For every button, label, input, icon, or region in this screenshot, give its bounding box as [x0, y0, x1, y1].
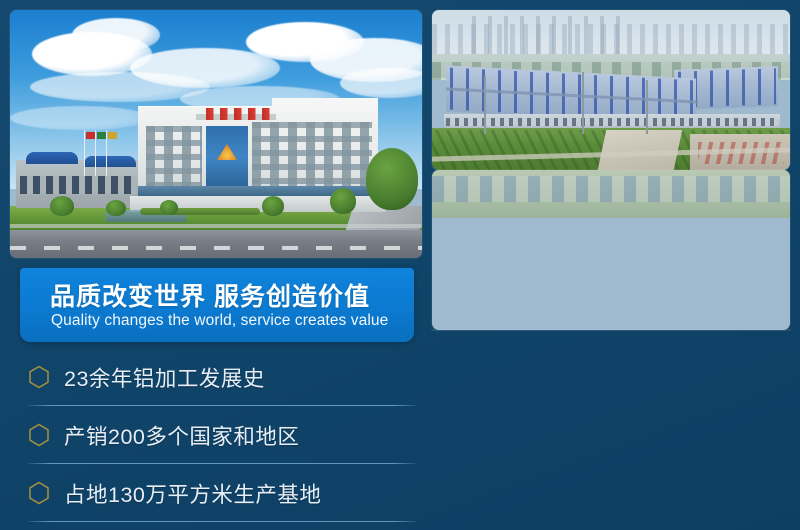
list-item-label: 23余年铝加工发展史	[64, 362, 265, 393]
tree-icon	[330, 188, 356, 214]
slogan-chinese: 品质改变世界 服务创造价值	[50, 277, 370, 313]
tree-icon	[160, 200, 178, 215]
divider	[28, 521, 416, 522]
list-item[interactable]: 占地130万平方米生产基地	[20, 464, 422, 522]
tree-icon	[50, 196, 74, 216]
hexagon-outline-icon	[28, 481, 50, 505]
left-column: 品质改变世界 服务创造价值 Quality changes the world,…	[10, 10, 422, 520]
photo-office-building[interactable]	[10, 10, 422, 258]
building-red-sign	[206, 108, 274, 120]
list-item[interactable]: 23余年铝加工发展史	[20, 348, 422, 406]
tree-icon	[106, 200, 126, 216]
flag-icon	[108, 132, 117, 139]
photo-aerial-factory-wide[interactable]	[432, 10, 790, 170]
list-item-label: 占地130万平方米生产基地	[64, 478, 321, 509]
tree-icon	[366, 148, 418, 210]
facade-windows	[446, 118, 778, 126]
road-layer	[10, 230, 422, 258]
pylon-icon	[582, 72, 584, 134]
company-profile-banner: 品质改变世界 服务创造价值 Quality changes the world,…	[0, 0, 800, 530]
slogan-english: Quality changes the world, service creat…	[51, 312, 388, 330]
list-item-label: 产销200多个国家和地区	[64, 420, 299, 451]
feature-list: 23余年铝加工发展史 产销200多个国家和地区 占地130万	[20, 348, 422, 522]
hexagon-outline-icon	[28, 365, 50, 389]
distant-workshops	[432, 176, 790, 202]
photo-aerial-factory-campus[interactable]	[432, 170, 790, 330]
cloud-icon	[72, 18, 160, 52]
distant-skyline	[432, 24, 790, 58]
flag-icon	[86, 132, 95, 139]
pylon-icon	[484, 76, 486, 134]
flag-icon	[97, 132, 106, 139]
hedge-layer	[140, 208, 260, 215]
right-column	[432, 10, 790, 520]
window-grid	[252, 122, 372, 190]
road-marking	[10, 246, 422, 250]
window-grid	[146, 126, 202, 190]
workshop-windows	[20, 176, 136, 194]
workshop-roof	[26, 152, 78, 164]
tree-icon	[262, 196, 284, 216]
cloud-icon	[10, 106, 150, 130]
kerb-line	[10, 224, 422, 228]
list-item[interactable]: 产销200多个国家和地区	[20, 406, 422, 464]
pylon-icon	[646, 80, 648, 134]
hexagon-outline-icon	[28, 423, 50, 447]
slogan-banner: 品质改变世界 服务创造价值 Quality changes the world,…	[20, 268, 414, 342]
